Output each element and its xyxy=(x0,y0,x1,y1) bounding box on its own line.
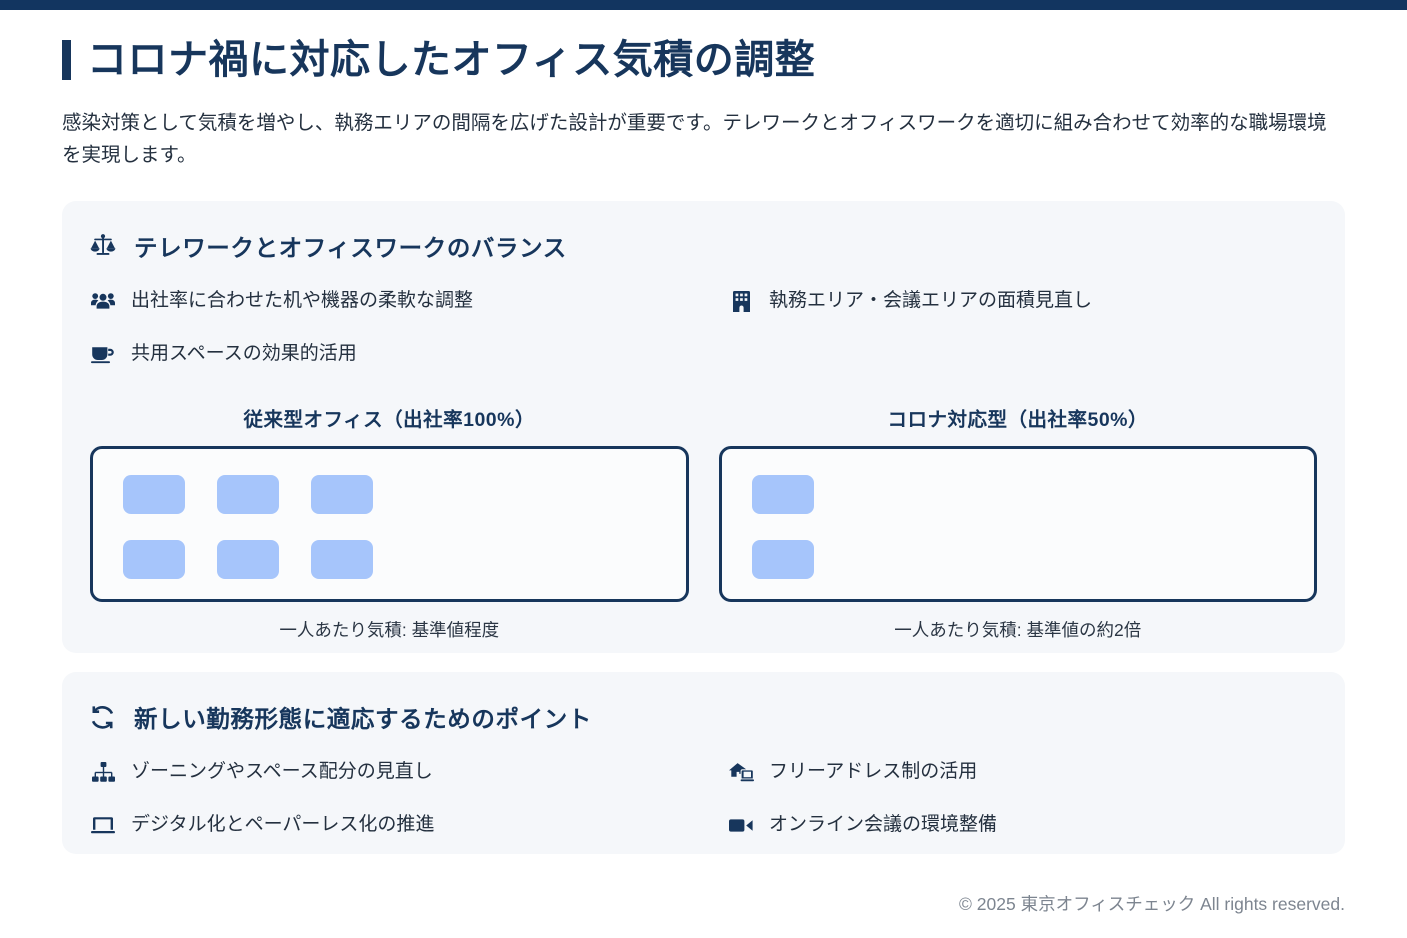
desk xyxy=(311,540,373,579)
feature-grid-spacer xyxy=(728,328,1317,381)
feature-item: フリーアドレス制の活用 xyxy=(728,746,1317,799)
feature-label: 共用スペースの効果的活用 xyxy=(131,342,357,367)
desk-row xyxy=(123,540,686,579)
points-feature-grid: ゾーニングやスペース配分の見直し フリーアドレス制の活用 xyxy=(90,746,1317,852)
desk xyxy=(311,475,373,514)
office-comparison: 従来型オフィス（出社率100%） 一人あたり気積: 基準値程度 xyxy=(90,403,1317,642)
sitemap-icon xyxy=(90,762,116,784)
feature-label: 出社率に合わせた机や機器の柔軟な調整 xyxy=(131,289,473,314)
desk xyxy=(217,475,279,514)
feature-item: デジタル化とペーパーレス化の推進 xyxy=(90,799,710,852)
feature-item: 共用スペースの効果的活用 xyxy=(90,328,710,381)
feature-label: 執務エリア・会議エリアの面積見直し xyxy=(769,289,1092,314)
page-description: 感染対策として気積を増やし、執務エリアの間隔を広げた設計が重要です。テレワークと… xyxy=(62,108,1345,171)
points-card-heading: 新しい勤務形態に適応するためのポイント xyxy=(90,700,1317,734)
sync-arrows-icon xyxy=(90,704,120,730)
office-diagram-caption: 一人あたり気積: 基準値程度 xyxy=(279,617,499,642)
title-accent-bar xyxy=(62,40,71,80)
house-laptop-icon xyxy=(728,762,754,784)
desk xyxy=(217,540,279,579)
desk xyxy=(752,475,814,514)
office-room-traditional xyxy=(90,446,689,602)
points-card: 新しい勤務形態に適応するためのポイント xyxy=(62,672,1345,854)
balance-card-heading-text: テレワークとオフィスワークのバランス xyxy=(134,229,567,263)
office-diagram-caption: 一人あたり気積: 基準値の約2倍 xyxy=(894,617,1141,642)
office-diagram-traditional: 従来型オフィス（出社率100%） 一人あたり気積: 基準値程度 xyxy=(90,403,689,642)
balance-card-heading: テレワークとオフィスワークのバランス xyxy=(90,229,1317,263)
feature-label: オンライン会議の環境整備 xyxy=(769,813,997,838)
points-card-heading-text: 新しい勤務形態に適応するためのポイント xyxy=(134,700,592,734)
feature-label: ゾーニングやスペース配分の見直し xyxy=(131,760,433,785)
desk-row xyxy=(752,475,1315,514)
laptop-icon xyxy=(90,815,116,837)
balance-card: テレワークとオフィスワークのバランス 出社率に合わせた机や機器の柔軟な調整 xyxy=(62,201,1345,653)
desk xyxy=(123,475,185,514)
desk xyxy=(123,540,185,579)
page-content: コロナ禍に対応したオフィス気積の調整 感染対策として気積を増やし、執務エリアの間… xyxy=(0,10,1407,938)
balance-feature-grid: 出社率に合わせた机や機器の柔軟な調整 執務エリア・会議エリアの面積見直し xyxy=(90,275,1317,381)
office-room-covid xyxy=(719,446,1318,602)
page-title: コロナ禍に対応したオフィス気積の調整 xyxy=(62,36,1345,84)
feature-label: フリーアドレス制の活用 xyxy=(769,760,977,785)
feature-item: 出社率に合わせた机や機器の柔軟な調整 xyxy=(90,275,710,328)
feature-item: 執務エリア・会議エリアの面積見直し xyxy=(728,275,1317,328)
coffee-cup-icon xyxy=(90,344,116,366)
feature-item: ゾーニングやスペース配分の見直し xyxy=(90,746,710,799)
footer-copyright: © 2025 東京オフィスチェック All rights reserved. xyxy=(959,891,1345,916)
video-camera-icon xyxy=(728,815,754,837)
page-title-text: コロナ禍に対応したオフィス気積の調整 xyxy=(87,36,815,84)
users-group-icon xyxy=(90,291,116,313)
feature-item: オンライン会議の環境整備 xyxy=(728,799,1317,852)
desk-row xyxy=(752,540,1315,579)
feature-label: デジタル化とペーパーレス化の推進 xyxy=(131,813,434,838)
building-icon xyxy=(728,291,754,313)
office-diagram-covid: コロナ対応型（出社率50%） 一人あたり気積: 基準値の約2倍 xyxy=(719,403,1318,642)
top-accent-bar xyxy=(0,0,1407,10)
desk xyxy=(752,540,814,579)
office-diagram-title: 従来型オフィス（出社率100%） xyxy=(244,403,535,432)
scale-balance-icon xyxy=(90,233,120,259)
desk-row xyxy=(123,475,686,514)
office-diagram-title: コロナ対応型（出社率50%） xyxy=(887,403,1148,432)
